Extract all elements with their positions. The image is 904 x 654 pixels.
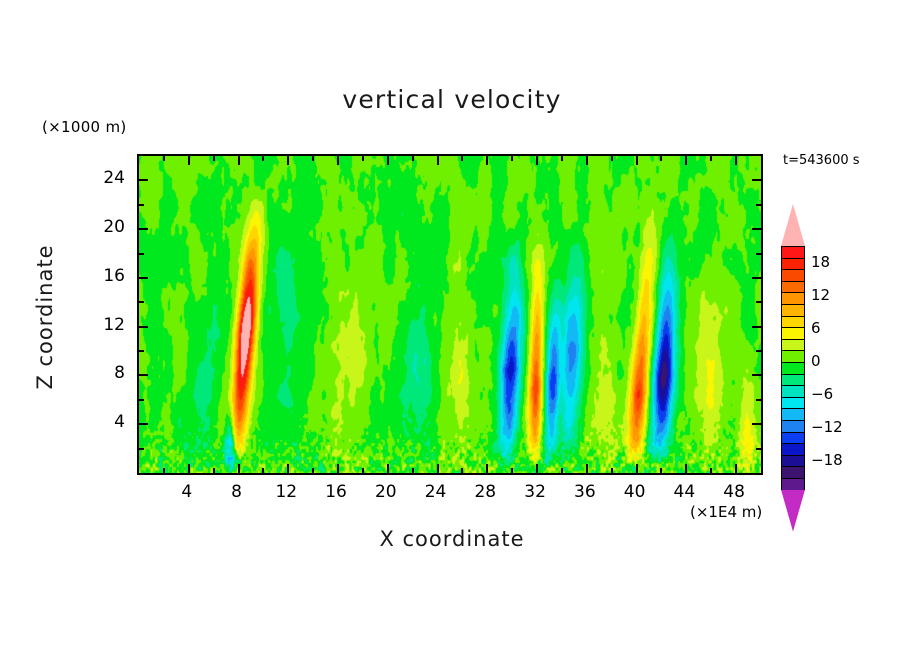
- axis-tick: [139, 374, 148, 376]
- axis-tick: [486, 156, 488, 165]
- axis-tick: [238, 464, 240, 473]
- axis-tick: [139, 326, 148, 328]
- figure-canvas: vertical velocity (×1000 m) 481216202428…: [0, 0, 904, 654]
- axis-tick: [611, 468, 613, 473]
- colorbar-band: [782, 317, 804, 329]
- colorbar-band: [782, 433, 804, 445]
- axis-tick: [756, 399, 761, 401]
- y-tick-label: 24: [85, 168, 125, 188]
- axis-tick: [660, 468, 662, 473]
- axis-tick: [312, 468, 314, 473]
- axis-tick: [752, 179, 761, 181]
- colorbar-band: [782, 351, 804, 363]
- z-axis-unit-label: (×1000 m): [42, 118, 127, 136]
- y-tick-label: 16: [85, 266, 125, 286]
- colorbar-band: [782, 467, 804, 479]
- y-tick-label: 20: [85, 217, 125, 237]
- axis-tick: [756, 448, 761, 450]
- axis-tick: [511, 156, 513, 161]
- colorbar-tick-label: 6: [811, 319, 821, 337]
- colorbar-band: [782, 421, 804, 433]
- colorbar-tick-label: 18: [811, 253, 830, 271]
- axis-tick: [611, 156, 613, 161]
- y-tick-label: 12: [85, 315, 125, 335]
- axis-tick: [752, 277, 761, 279]
- y-axis-title: Z coordinate: [33, 227, 57, 407]
- colorbar-band: [782, 328, 804, 340]
- x-axis-unit-label: (×1E4 m): [690, 503, 762, 521]
- axis-tick: [139, 228, 148, 230]
- colorbar-band: [782, 409, 804, 421]
- plot-area: [137, 154, 763, 475]
- axis-tick: [461, 156, 463, 161]
- y-tick-label: 8: [85, 363, 125, 383]
- axis-tick: [262, 156, 264, 161]
- axis-tick: [636, 156, 638, 165]
- axis-tick: [139, 350, 144, 352]
- axis-tick: [461, 468, 463, 473]
- axis-tick: [437, 464, 439, 473]
- axis-tick: [536, 156, 538, 165]
- colorbar-band: [782, 247, 804, 259]
- colorbar-tick-label: 12: [811, 286, 830, 304]
- axis-tick: [238, 156, 240, 165]
- colorbar-band: [782, 282, 804, 294]
- axis-tick: [752, 326, 761, 328]
- axis-tick: [188, 464, 190, 473]
- colorbar-band: [782, 479, 804, 491]
- colorbar-tick-label: 0: [811, 352, 821, 370]
- axis-tick: [362, 468, 364, 473]
- axis-tick: [337, 464, 339, 473]
- axis-tick: [139, 179, 148, 181]
- axis-tick: [756, 204, 761, 206]
- colorbar-band: [782, 363, 804, 375]
- axis-tick: [756, 301, 761, 303]
- axis-tick: [139, 277, 148, 279]
- colorbar-overflow-cap: [781, 204, 805, 246]
- axis-tick: [752, 228, 761, 230]
- axis-tick: [511, 468, 513, 473]
- axis-tick: [437, 156, 439, 165]
- x-tick-label: 48: [704, 482, 764, 502]
- vertical-velocity-field: [139, 156, 761, 473]
- axis-tick: [561, 156, 563, 161]
- axis-tick: [287, 464, 289, 473]
- axis-tick: [486, 464, 488, 473]
- axis-tick: [139, 301, 144, 303]
- axis-tick: [752, 374, 761, 376]
- axis-tick: [685, 464, 687, 473]
- axis-tick: [752, 423, 761, 425]
- colorbar-band: [782, 293, 804, 305]
- axis-tick: [139, 253, 144, 255]
- axis-tick: [756, 253, 761, 255]
- x-axis-title: X coordinate: [0, 527, 904, 551]
- colorbar-underflow-cap: [781, 490, 805, 532]
- axis-tick: [387, 464, 389, 473]
- axis-tick: [735, 156, 737, 165]
- time-annotation: t=543600 s: [783, 153, 860, 168]
- axis-tick: [312, 156, 314, 161]
- axis-tick: [710, 468, 712, 473]
- colorbar-tick-label: −12: [811, 418, 843, 436]
- axis-tick: [685, 156, 687, 165]
- colorbar-band: [782, 444, 804, 456]
- axis-tick: [362, 156, 364, 161]
- axis-tick: [412, 156, 414, 161]
- axis-tick: [213, 156, 215, 161]
- axis-tick: [412, 468, 414, 473]
- axis-tick: [636, 464, 638, 473]
- colorbar-band: [782, 340, 804, 352]
- axis-tick: [139, 448, 144, 450]
- axis-tick: [262, 468, 264, 473]
- colorbar-band: [782, 456, 804, 468]
- colorbar-band: [782, 386, 804, 398]
- colorbar-tick-label: −6: [811, 385, 833, 403]
- axis-tick: [139, 423, 148, 425]
- axis-tick: [536, 464, 538, 473]
- axis-tick: [163, 156, 165, 161]
- colorbar-band: [782, 375, 804, 387]
- axis-tick: [710, 156, 712, 161]
- y-tick-label: 4: [85, 412, 125, 432]
- colorbar-band: [782, 305, 804, 317]
- colorbar-band: [782, 259, 804, 271]
- axis-tick: [188, 156, 190, 165]
- axis-tick: [586, 156, 588, 165]
- colorbar-bands: [781, 246, 805, 490]
- axis-tick: [337, 156, 339, 165]
- axis-tick: [139, 399, 144, 401]
- axis-tick: [163, 468, 165, 473]
- axis-tick: [756, 350, 761, 352]
- colorbar-tick-label: −18: [811, 451, 843, 469]
- axis-tick: [387, 156, 389, 165]
- colorbar-band: [782, 270, 804, 282]
- colorbar-band: [782, 398, 804, 410]
- axis-tick: [213, 468, 215, 473]
- axis-tick: [287, 156, 289, 165]
- axis-tick: [735, 464, 737, 473]
- axis-tick: [561, 468, 563, 473]
- axis-tick: [586, 464, 588, 473]
- axis-tick: [139, 204, 144, 206]
- axis-tick: [660, 156, 662, 161]
- page-title: vertical velocity: [0, 85, 904, 114]
